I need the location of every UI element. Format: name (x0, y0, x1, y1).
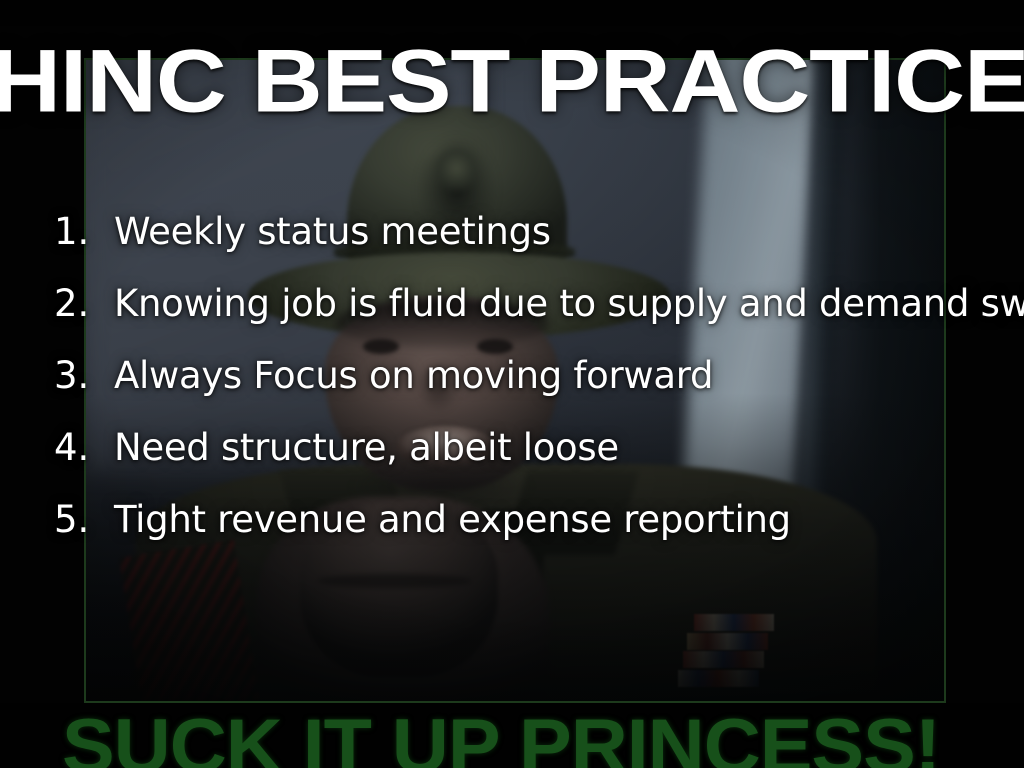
bottom-caption-strip: SUCK IT UP PRINCESS! (0, 703, 1024, 768)
top-cutoff-text-strip: NG TASKS AND (0, 0, 1024, 26)
list-item-text: Always Focus on moving forward (114, 355, 1008, 397)
list-item-number: 4. (54, 428, 102, 468)
list-item-text: Knowing job is fluid due to supply and d… (114, 283, 1008, 325)
list-item-text: Weekly status meetings (114, 211, 1008, 253)
list-item-text: Tight revenue and expense reporting (114, 499, 1008, 541)
list-item-number: 2. (54, 284, 102, 324)
list-item: 2. Knowing job is fluid due to supply an… (0, 268, 1024, 340)
list-item: 4. Need structure, albeit loose (0, 412, 1024, 484)
list-item-text: Need structure, albeit loose (114, 427, 1008, 469)
list-item-number: 1. (54, 212, 102, 252)
list-item-number: 5. (54, 500, 102, 540)
top-cutoff-text: NG TASKS AND (30, 0, 687, 4)
bottom-caption-text: SUCK IT UP PRINCESS! (62, 709, 940, 768)
best-practices-list: 1. Weekly status meetings 2. Knowing job… (0, 196, 1024, 556)
page-title: THINC BEST PRACTICES (0, 36, 1024, 125)
list-item: 1. Weekly status meetings (0, 196, 1024, 268)
list-item: 5. Tight revenue and expense reporting (0, 484, 1024, 556)
list-item: 3. Always Focus on moving forward (0, 340, 1024, 412)
list-item-number: 3. (54, 356, 102, 396)
campaign-hat-emblem (433, 145, 480, 193)
presentation-slide: NG TASKS AND THINC BEST PRACTICES 1. Wee… (0, 0, 1024, 768)
